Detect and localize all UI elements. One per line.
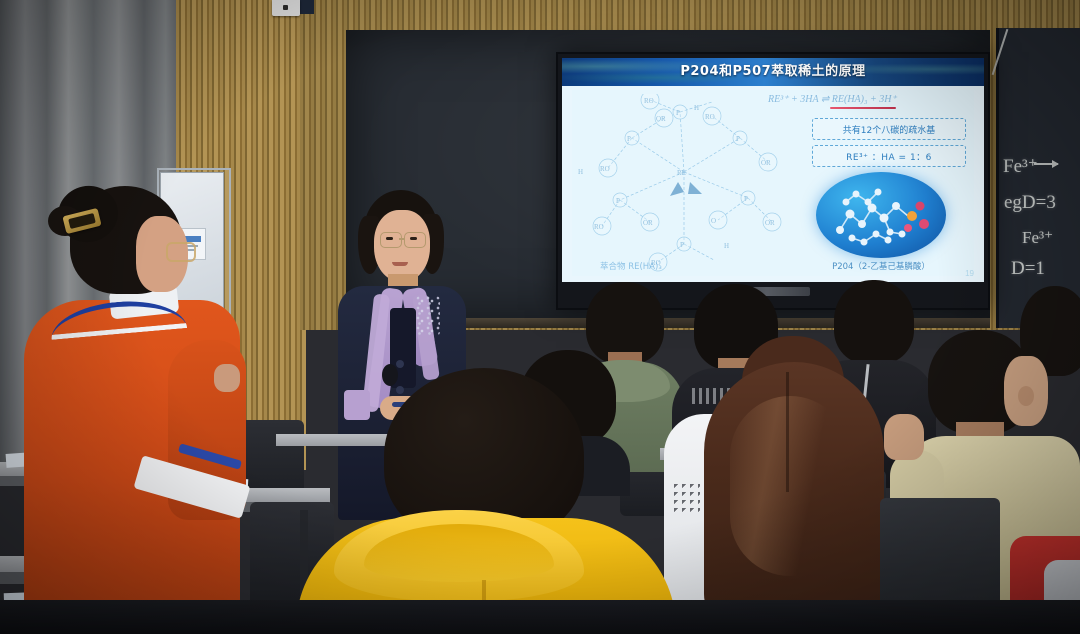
teacher-collar-trim — [416, 296, 440, 336]
svg-text:H: H — [694, 104, 699, 112]
chalk-note-d-value: D=1 — [1011, 258, 1045, 280]
slide-body: RE³⁺ + 3HA ⇌ RE(HA)₃ + 3H⁺ 共有12个八碳的疏水基 R… — [572, 90, 974, 276]
slide-callout-hydrophobic: 共有12个八碳的疏水基 — [812, 118, 966, 140]
slide-molecule-caption: P204（2-乙基己基膦酸） — [816, 260, 946, 272]
svg-text:OR: OR — [656, 115, 666, 123]
smart-display[interactable]: P204和P507萃取稀土的原理 RE³⁺ + 3HA ⇌ RE(HA)₃ + … — [556, 52, 990, 310]
svg-text:OR: OR — [643, 219, 653, 227]
presentation-slide: P204和P507萃取稀土的原理 RE³⁺ + 3HA ⇌ RE(HA)₃ + … — [562, 58, 984, 282]
chalk-arrow-icon — [1034, 163, 1058, 165]
chalk-note-eg-d: egD=3 — [1004, 192, 1056, 214]
svg-text:OR: OR — [765, 219, 775, 227]
blackboard-right — [996, 28, 1080, 328]
svg-text:RO: RO — [705, 113, 715, 121]
p204-molecule-model — [816, 172, 946, 258]
eyeglasses-icon — [404, 232, 426, 248]
eyeglasses-icon — [380, 232, 402, 248]
svg-text:OR: OR — [761, 159, 771, 167]
slide-title: P204和P507萃取稀土的原理 — [562, 58, 984, 86]
classroom-floor — [0, 600, 1080, 634]
svg-text:H: H — [578, 168, 583, 176]
svg-text:P: P — [680, 241, 684, 249]
slide-complex-label: 萃合物 RE(HA)₃ — [600, 260, 662, 272]
chalk-note-fe-ion: Fe³⁺ — [1003, 155, 1038, 178]
slide-page-number: 19 — [965, 269, 974, 278]
chalk-note-fe-ion-2: Fe³⁺ — [1022, 228, 1053, 248]
svg-text:RE: RE — [677, 169, 686, 177]
svg-text:O: O — [711, 217, 716, 225]
student-hand — [214, 364, 240, 392]
wall-sensor-device — [272, 0, 300, 16]
student-ear — [1018, 386, 1034, 406]
svg-text:P: P — [616, 197, 620, 205]
hair-part — [786, 372, 789, 492]
molecular-structure-diagram: RE PP PP PP ROOR ORRO ROOR ORO RORO HH H — [572, 94, 802, 272]
svg-text:H: H — [724, 242, 729, 250]
molecule-highlight-ellipse — [816, 172, 946, 258]
slide-callout-ratio: RE³⁺ ：HA = 1：6 — [812, 145, 966, 167]
classroom-scene: Fe³⁺ egD=3 Fe³⁺ D=1 P204和P507萃取稀土的原理 RE³… — [0, 0, 1080, 634]
svg-text:P: P — [736, 135, 740, 143]
teacher-eye — [386, 237, 393, 240]
slide-title-banner: P204和P507萃取稀土的原理 — [562, 58, 984, 86]
svg-text:RO: RO — [594, 223, 604, 231]
student-yellow-hoodie — [300, 368, 670, 634]
hair-highlight — [730, 396, 850, 576]
teacher-eye — [410, 237, 417, 240]
equation-underline — [830, 107, 896, 109]
svg-text:P: P — [744, 195, 748, 203]
svg-text:P: P — [627, 135, 631, 143]
svg-text:RO: RO — [644, 97, 654, 105]
student-hand — [884, 414, 924, 460]
svg-text:RO: RO — [600, 165, 610, 173]
eyeglasses-icon — [166, 242, 196, 262]
student-standing-orange — [18, 180, 258, 634]
student-long-brown-hair — [690, 336, 890, 634]
teacher-mouth — [392, 262, 408, 266]
eyeglasses-bridge — [399, 238, 405, 240]
blazer-button — [396, 360, 404, 368]
svg-text:P: P — [676, 109, 680, 117]
